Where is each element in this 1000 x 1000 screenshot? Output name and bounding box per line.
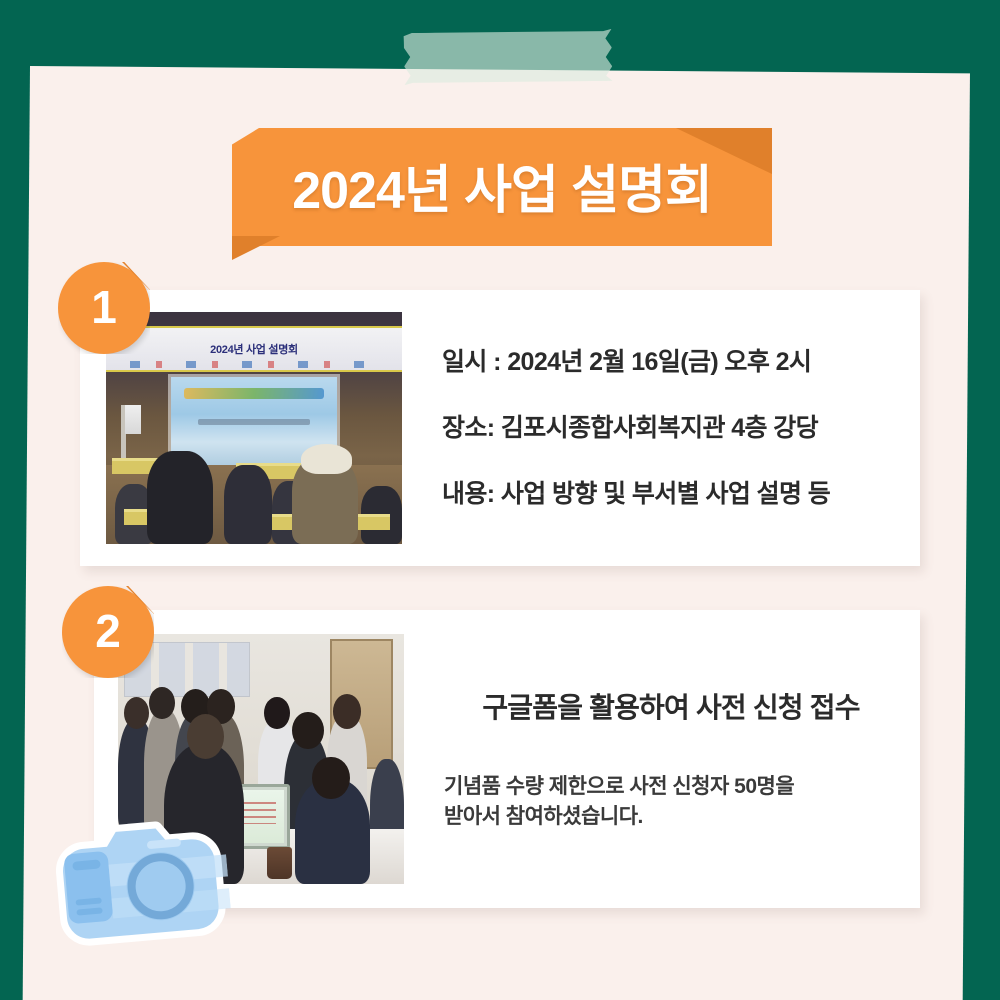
photo1-banner-text: 2024년 사업 설명회: [210, 341, 298, 357]
registration-body: 기념품 수량 제한으로 사전 신청자 50명을 받아서 참여하셨습니다.: [444, 772, 898, 833]
event-location-line: 장소: 김포시종합사회복지관 4층 강당: [442, 413, 898, 443]
event-content-line: 내용: 사업 방향 및 부서별 사업 설명 등: [442, 479, 898, 509]
photo1-banner-subline: [130, 361, 379, 368]
step-badge-1: 1: [58, 262, 150, 354]
title-ribbon: 2024년 사업 설명회: [232, 128, 772, 246]
photo1-attendee: [147, 451, 212, 544]
event-photo-auditorium: 2024년 사업 설명회: [106, 312, 402, 544]
photo1-stage-banner: 2024년 사업 설명회: [106, 326, 402, 372]
card-2-text-block: 구글폼을 활용하여 사전 신청 접수 기념품 수량 제한으로 사전 신청자 50…: [404, 686, 920, 833]
step-badge-2: 2: [62, 586, 154, 678]
content-card-1: 2024년 사업 설명회: [80, 290, 920, 566]
photo1-attendee: [224, 465, 271, 544]
photo1-screen-subtitle: [198, 419, 311, 425]
step-badge-1-number: 1: [91, 284, 117, 333]
registration-body-line-2: 받아서 참여하셨습니다.: [444, 802, 898, 832]
washi-tape-decoration: [403, 29, 612, 85]
photo2-staff-foreground-head: [312, 757, 349, 800]
photo2-attendee-head: [292, 712, 323, 750]
photo2-staff-head: [264, 697, 290, 730]
photo2-attendee-head: [149, 687, 175, 720]
page-title: 2024년 사업 설명회: [232, 128, 772, 246]
photo2-staff-head: [333, 694, 362, 729]
photo1-screen-title: [184, 388, 323, 399]
registration-body-line-1: 기념품 수량 제한으로 사전 신청자 50명을: [444, 772, 898, 802]
poster-canvas: 2024년 사업 설명회 1 2024년 사업 설명회: [0, 0, 1000, 1000]
card-1-text-block: 일시 : 2024년 2월 16일(금) 오후 2시 장소: 김포시종합사회복지…: [402, 347, 920, 509]
photo1-attendee-hat: [301, 444, 351, 474]
camera-icon: [47, 811, 233, 950]
step-badge-2-number: 2: [95, 608, 121, 657]
registration-heading: 구글폼을 활용하여 사전 신청 접수: [444, 686, 898, 726]
photo2-cup: [267, 847, 293, 880]
event-datetime-line: 일시 : 2024년 2월 16일(금) 오후 2시: [442, 347, 898, 377]
photo2-attendee-foreground-head: [187, 714, 224, 759]
